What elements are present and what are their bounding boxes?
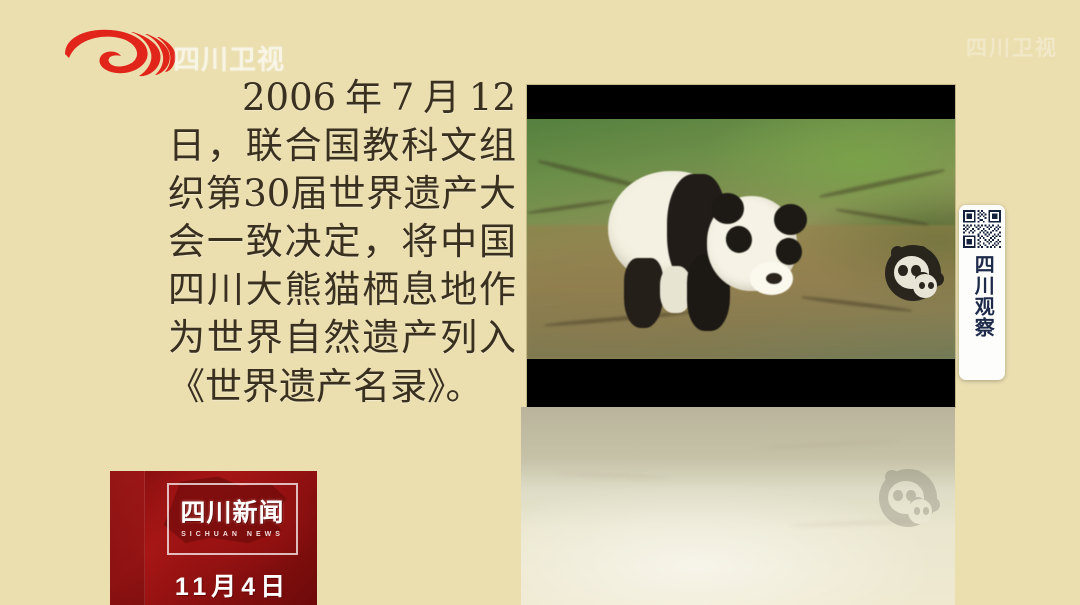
lower-image-region: [521, 407, 955, 605]
news-title: 四川新闻: [180, 501, 284, 526]
letterbox-top: [527, 85, 955, 119]
panda-subject: [608, 153, 805, 335]
qr-banner-label: 四川观察: [972, 254, 992, 338]
panda-ear: [711, 193, 744, 224]
broadcast-screen: 四川卫视 四川卫视 2006年7月12日，联合国教科文组织第30届世界遗产大会一…: [0, 0, 1080, 605]
news-date: 11月4日: [167, 567, 298, 603]
scene-branch: [527, 199, 612, 215]
letterbox-bottom: [527, 359, 955, 407]
panda-ear: [774, 204, 807, 235]
channel-logo: 四川卫视: [55, 24, 315, 80]
scene-branch: [835, 208, 929, 227]
news-banner: 四川新闻 SICHUAN NEWS 11月4日: [110, 471, 317, 605]
news-banner-strip: [110, 471, 145, 605]
video-scene: [527, 119, 955, 359]
caption-text: 2006年7月12日，联合国教科文组织第30届世界遗产大会一致决定，将中国四川大…: [168, 74, 516, 411]
panda-watermark-icon: [885, 245, 941, 301]
panda-hind-leg: [624, 258, 663, 327]
video-panel[interactable]: [527, 85, 955, 407]
channel-logo-label: 四川卫视: [173, 38, 285, 77]
corner-watermark: 四川卫视: [966, 32, 1058, 62]
panda-watermark-icon: [879, 469, 937, 527]
scene-branch: [819, 168, 946, 200]
panda-nose: [766, 273, 782, 284]
qr-banner[interactable]: 四川观察: [959, 205, 1005, 380]
news-subtitle: SICHUAN NEWS: [181, 531, 284, 538]
news-title-box: 四川新闻 SICHUAN NEWS: [167, 483, 298, 555]
qr-code-icon[interactable]: [963, 210, 1001, 248]
